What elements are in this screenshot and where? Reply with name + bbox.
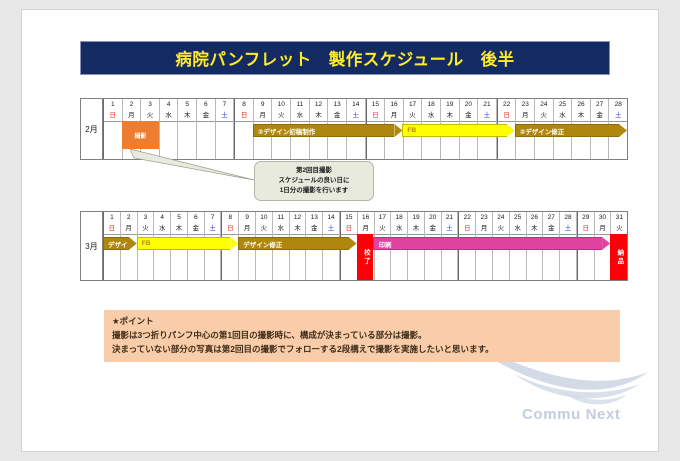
day-number: 5 [171,212,187,223]
task-bar-body [373,237,602,250]
day-number: 17 [404,99,422,110]
task-bar-arrow [602,237,610,250]
day-number: 22 [459,212,475,223]
day-number: 28 [560,212,576,223]
day-number: 2 [121,212,137,223]
callout-line-1: 第2回目撮影 [296,166,332,176]
day-number: 21 [478,99,496,110]
task-bar-arrow [507,124,515,137]
task-bar-arrow [619,124,627,137]
day-number: 23 [476,212,492,223]
task-bar-label: デザイ [103,239,128,249]
day-number: 7 [216,99,234,110]
task-bar: デザイ [103,237,137,250]
callout-line-2: スケジュールの良い日に [278,176,349,186]
day-number: 7 [205,212,221,223]
task-block-label: 校了 [361,249,370,266]
task-block-label: 納品 [614,249,623,266]
task-bar-label: ②デザイン修正 [515,126,565,136]
task-bars-march: デザイFBデザイン修正校了印刷納品 [103,234,627,280]
day-number: 3 [138,212,154,223]
task-bar: FB [137,237,238,250]
day-number: 27 [591,99,609,110]
day-number: 22 [498,99,516,110]
day-number: 25 [554,99,572,110]
task-block: 撮影 [122,121,159,149]
day-number: 19 [408,212,424,223]
task-bar-label: FB [137,240,151,247]
day-number: 21 [442,212,458,223]
day-number: 14 [323,212,339,223]
gantt-row-february: 2月 1日2月3火4水5木6金7土8日9月10火11水12木13金14土15日1… [80,98,628,160]
task-block-label: 撮影 [134,131,146,140]
task-bar-arrow [349,237,357,250]
day-number: 6 [197,99,215,110]
task-bar-arrow [394,124,402,137]
day-number: 12 [310,99,328,110]
day-number: 24 [493,212,509,223]
month-label-february: 2月 [81,99,103,159]
brand-logo-text: Commu Next [522,406,621,423]
task-bar-body [402,124,506,137]
day-number: 6 [188,212,204,223]
point-line-1: 撮影は3つ折りパンフ中心の第1回目の撮影時に、構成が決まっている部分は撮影。 [112,329,620,343]
point-heading: ★ポイント [112,315,620,329]
day-number: 23 [516,99,534,110]
task-bar-label: デザイン修正 [238,239,282,249]
day-number: 26 [572,99,590,110]
day-number: 18 [422,99,440,110]
day-number: 11 [273,212,289,223]
callout-line-3: 1日分の撮影を行います [280,186,349,196]
day-number: 10 [256,212,272,223]
task-bar: デザイン修正 [238,237,356,250]
day-number: 1 [104,212,120,223]
task-bars-february: 撮影②デザイン初稿制作FB②デザイン修正 [103,121,627,159]
day-number: 12 [290,212,306,223]
day-number: 1 [104,99,122,110]
day-number: 15 [367,99,385,110]
day-number: 28 [609,99,627,110]
day-number: 4 [154,212,170,223]
day-number: 2 [123,99,141,110]
task-bar: ②デザイン修正 [515,124,627,137]
day-number: 8 [235,99,253,110]
day-number: 24 [535,99,553,110]
day-number: 15 [341,212,357,223]
day-number: 20 [460,99,478,110]
task-block: 納品 [610,234,627,280]
task-bar: ②デザイン初稿制作 [253,124,403,137]
day-number: 9 [239,212,255,223]
day-number: 4 [160,99,178,110]
day-number: 30 [595,212,611,223]
day-number: 25 [510,212,526,223]
day-number: 13 [306,212,322,223]
task-bar-label: FB [402,127,416,134]
day-number: 13 [328,99,346,110]
page-title: 病院パンフレット 製作スケジュール 後半 [175,46,514,70]
task-block: 校了 [357,234,374,280]
task-bar: FB [402,124,514,137]
day-number: 20 [425,212,441,223]
day-number: 16 [358,212,374,223]
day-number: 8 [222,212,238,223]
task-bar: 印刷 [373,237,610,250]
day-number: 11 [291,99,309,110]
day-number: 29 [578,212,594,223]
callout-second-shoot: 第2回目撮影 スケジュールの良い日に 1日分の撮影を行います [254,161,374,201]
day-number: 16 [385,99,403,110]
day-number: 10 [272,99,290,110]
task-bar-arrow [230,237,238,250]
task-bar-label: ②デザイン初稿制作 [253,126,316,136]
day-number: 9 [254,99,272,110]
day-number: 14 [347,99,365,110]
app-background: 病院パンフレット 製作スケジュール 後半 2月 1日2月3火4水5木6金7土8日… [0,0,680,461]
slide-title-banner: 病院パンフレット 製作スケジュール 後半 [80,41,610,75]
point-line-2: 決まっていない部分の写真は第2回目の撮影でフォローする2段構えで撮影を実施したい… [112,343,620,357]
point-note-box: ★ポイント 撮影は3つ折りパンフ中心の第1回目の撮影時に、構成が決まっている部分… [104,310,620,362]
task-bar-arrow [129,237,137,250]
day-number: 27 [543,212,559,223]
day-number: 26 [527,212,543,223]
day-number: 31 [611,212,627,223]
day-number: 18 [391,212,407,223]
task-bar-body [137,237,230,250]
month-label-march: 3月 [81,212,103,280]
day-number: 5 [178,99,196,110]
slide-page: 病院パンフレット 製作スケジュール 後半 2月 1日2月3火4水5木6金7土8日… [22,10,658,451]
day-number: 3 [141,99,159,110]
day-number: 19 [441,99,459,110]
day-number: 17 [375,212,391,223]
task-bar-label: 印刷 [373,239,391,249]
gantt-row-march: 3月 1日2月3火4水5木6金7土8日9月10火11水12木13金14土15日1… [80,211,628,281]
